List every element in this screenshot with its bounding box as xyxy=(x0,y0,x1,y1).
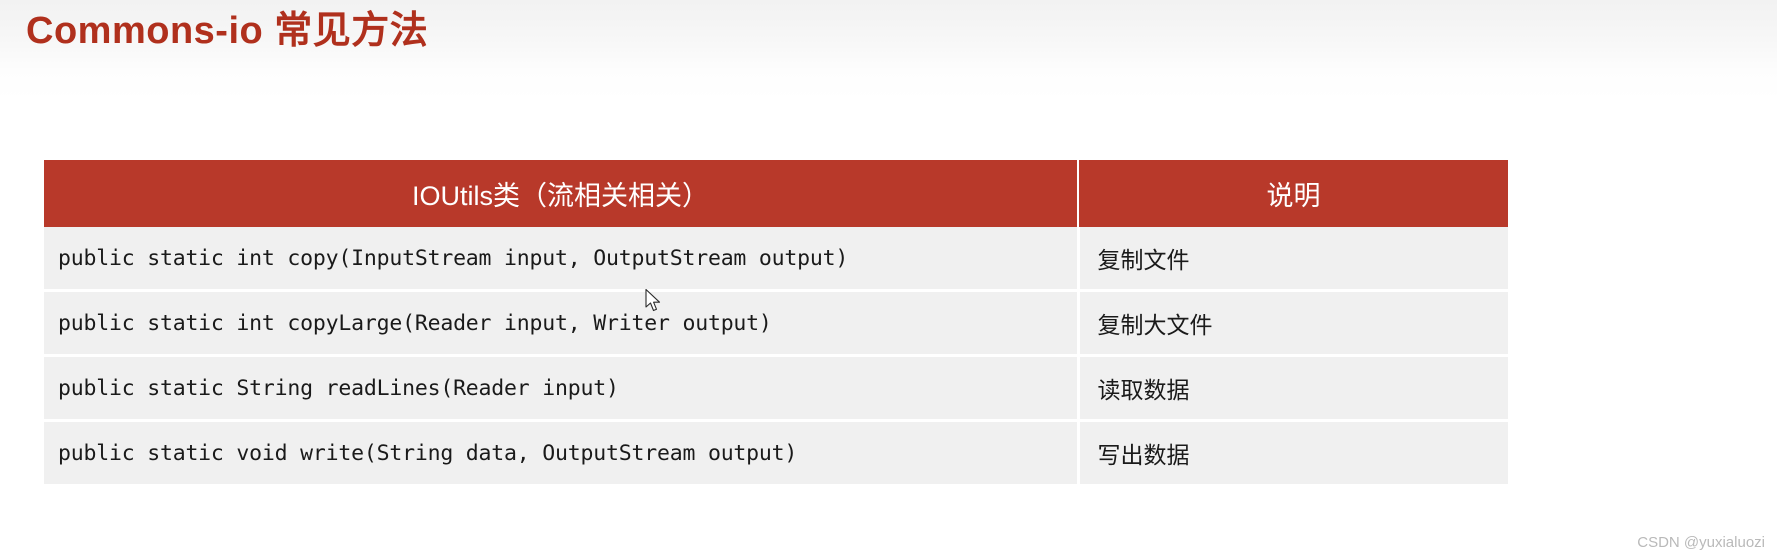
column-header-description: 说明 xyxy=(1078,160,1508,227)
page-title: Commons-io 常见方法 xyxy=(26,8,428,56)
cell-method-description: 复制大文件 xyxy=(1078,291,1508,356)
cell-method-description: 写出数据 xyxy=(1078,421,1508,485)
table-body: public static int copy(InputStream input… xyxy=(44,227,1508,484)
cell-method-signature: public static int copyLarge(Reader input… xyxy=(44,291,1078,356)
methods-table: IOUtils类（流相关相关） 说明 public static int cop… xyxy=(44,160,1508,484)
table-row: public static void write(String data, Ou… xyxy=(44,421,1508,485)
cell-method-signature: public static int copy(InputStream input… xyxy=(44,227,1078,291)
table-row: public static String readLines(Reader in… xyxy=(44,356,1508,421)
column-header-ioutils: IOUtils类（流相关相关） xyxy=(44,160,1078,227)
csdn-watermark: CSDN @yuxialuozi xyxy=(1637,534,1765,551)
table-row: public static int copy(InputStream input… xyxy=(44,227,1508,291)
table-header-row: IOUtils类（流相关相关） 说明 xyxy=(44,160,1508,227)
cell-method-signature: public static void write(String data, Ou… xyxy=(44,421,1078,485)
cell-method-signature: public static String readLines(Reader in… xyxy=(44,356,1078,421)
table-header: IOUtils类（流相关相关） 说明 xyxy=(44,160,1508,227)
cell-method-description: 读取数据 xyxy=(1078,356,1508,421)
cell-method-description: 复制文件 xyxy=(1078,227,1508,291)
table-row: public static int copyLarge(Reader input… xyxy=(44,291,1508,356)
